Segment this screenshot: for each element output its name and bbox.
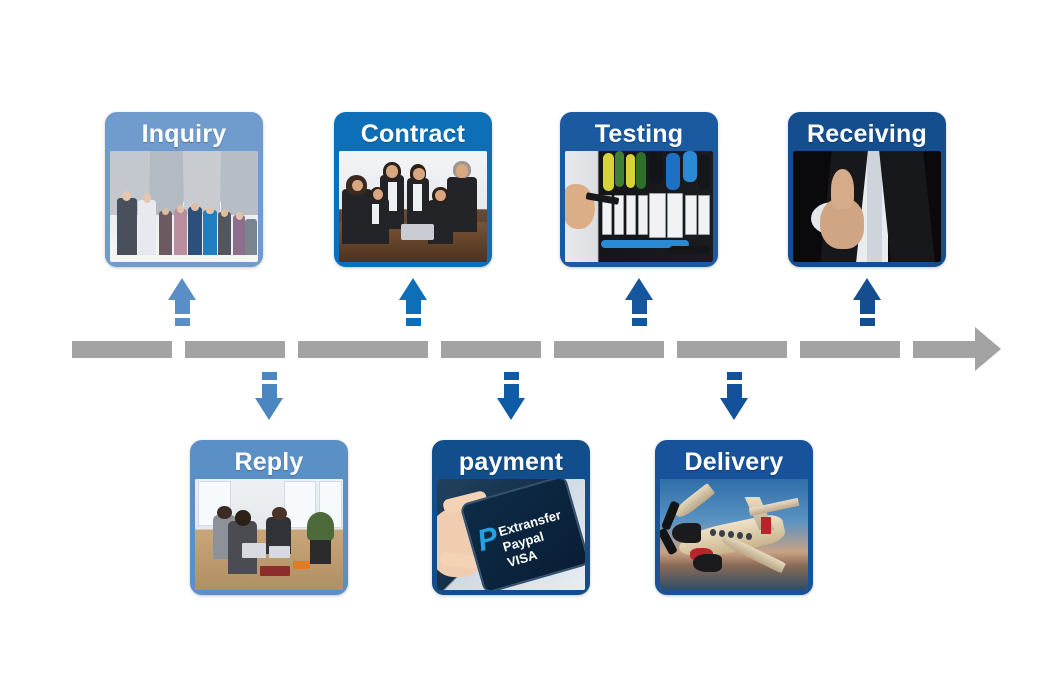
process-timeline <box>72 341 982 358</box>
timeline-arrowhead-icon <box>975 327 1001 371</box>
timeline-dash <box>677 341 787 358</box>
step-card-delivery[interactable]: Delivery <box>655 440 813 595</box>
connector-arrow-inquiry <box>168 278 196 326</box>
connector-arrow-payment <box>497 372 525 420</box>
timeline-dash <box>72 341 172 358</box>
step-photo-inquiry <box>110 151 258 262</box>
timeline-dash <box>800 341 900 358</box>
timeline-dash <box>185 341 285 358</box>
step-photo-testing <box>565 151 713 262</box>
connector-arrow-receiving <box>853 278 881 326</box>
step-card-testing[interactable]: Testing <box>560 112 718 267</box>
timeline-dash <box>554 341 664 358</box>
step-photo-delivery <box>660 479 808 590</box>
connector-arrow-testing <box>625 278 653 326</box>
step-photo-contract <box>339 151 487 262</box>
step-card-reply[interactable]: Reply <box>190 440 348 595</box>
connector-arrow-delivery <box>720 372 748 420</box>
step-card-receiving[interactable]: Receiving <box>788 112 946 267</box>
step-photo-payment: P Extransfer Paypal VISA <box>437 479 585 590</box>
step-title-testing: Testing <box>565 117 713 151</box>
step-card-inquiry[interactable]: Inquiry <box>105 112 263 267</box>
timeline-dash <box>913 341 982 358</box>
step-title-payment: payment <box>437 445 585 479</box>
step-title-receiving: Receiving <box>793 117 941 151</box>
step-photo-receiving <box>793 151 941 262</box>
step-title-inquiry: Inquiry <box>110 117 258 151</box>
step-title-reply: Reply <box>195 445 343 479</box>
step-title-contract: Contract <box>339 117 487 151</box>
connector-arrow-contract <box>399 278 427 326</box>
step-card-payment[interactable]: payment P Extransfer Paypal VISA <box>432 440 590 595</box>
timeline-dash <box>441 341 541 358</box>
step-card-contract[interactable]: Contract <box>334 112 492 267</box>
step-title-delivery: Delivery <box>660 445 808 479</box>
connector-arrow-reply <box>255 372 283 420</box>
process-flow-diagram: Inquiry <box>0 0 1059 697</box>
step-photo-reply <box>195 479 343 590</box>
timeline-dash <box>298 341 428 358</box>
